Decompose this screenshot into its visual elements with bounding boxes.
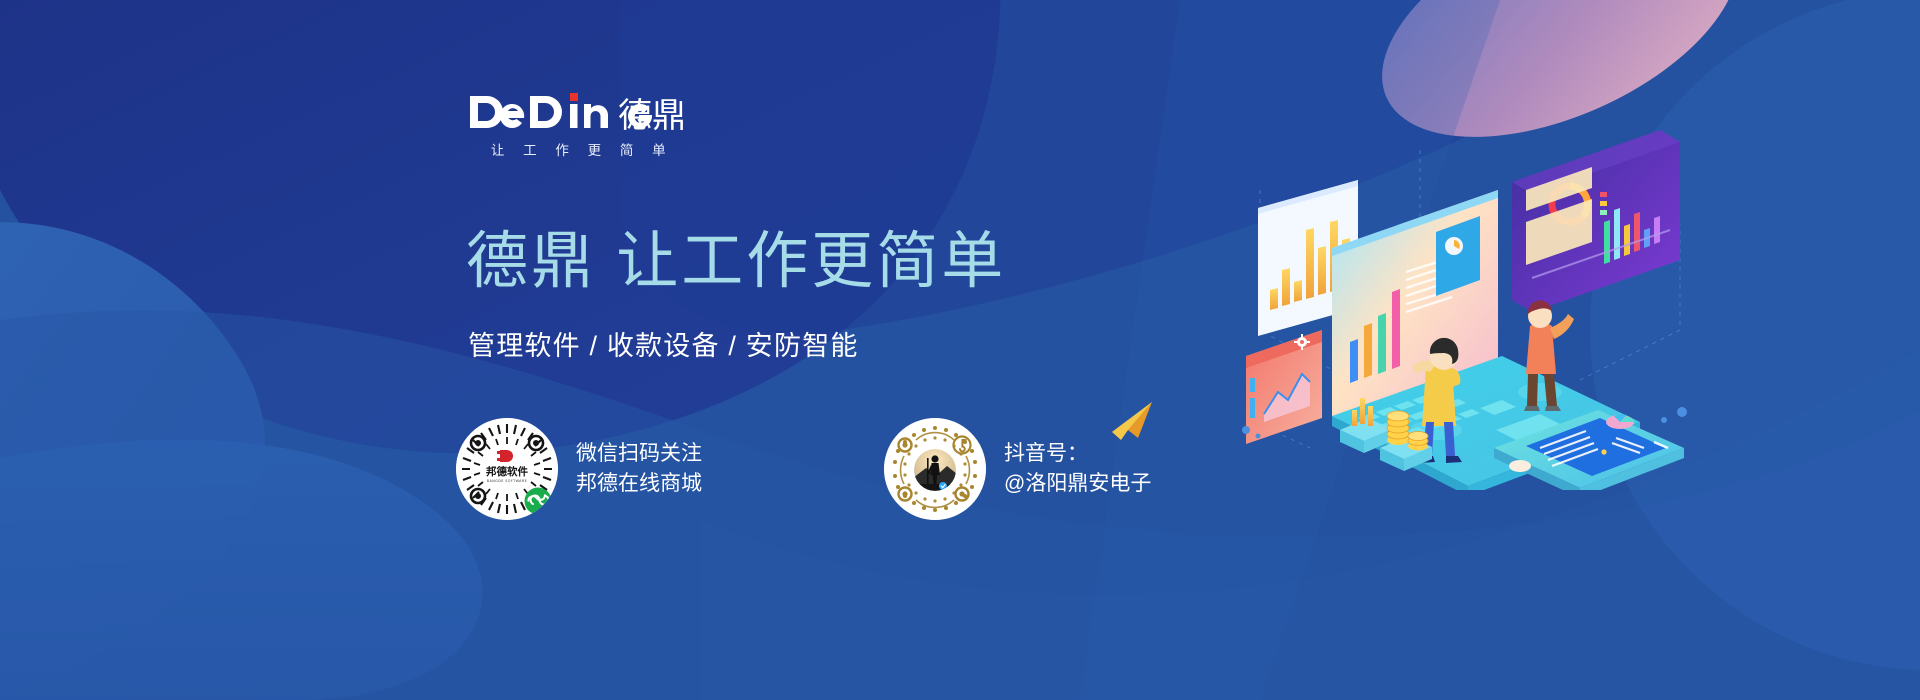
- qr-caption-douyin: 抖音号： @洛阳鼎安电子: [1004, 439, 1151, 500]
- douyin-qr-icon[interactable]: [884, 418, 986, 520]
- qr-caption-line1: 微信扫码关注: [576, 439, 702, 469]
- donut-chart-panel: [1512, 130, 1680, 312]
- hero-subheadline: 管理软件 / 收款设备 / 安防智能: [468, 324, 859, 363]
- logo-cn-text: 德鼎: [618, 96, 684, 132]
- wechat-miniprogram-badge: [525, 488, 552, 515]
- qr-code-group: 邦德软件 BANGDE SOFTWARE 微信扫码关注 邦德在线商城: [456, 418, 1151, 520]
- isometric-analytics-illustration: [1240, 130, 1700, 490]
- qr-caption-line2: 邦德在线商城: [576, 469, 702, 499]
- donut-legend: [1600, 192, 1607, 215]
- line-chart-panel: [1246, 330, 1322, 444]
- brand-logo[interactable]: 德鼎 让 工 作 更 简 单: [468, 88, 688, 159]
- logo-wordmark-icon: 德鼎: [468, 88, 684, 132]
- qr-item-wechat[interactable]: 邦德软件 BANGDE SOFTWARE 微信扫码关注 邦德在线商城: [456, 418, 702, 520]
- hero-headline: 德鼎 让工作更简单: [466, 228, 1006, 296]
- promo-banner: 德鼎 让 工 作 更 简 单 德鼎 让工作更简单 管理软件 / 收款设备 / 安…: [0, 0, 1920, 700]
- wechat-miniprogram-qr-icon[interactable]: 邦德软件 BANGDE SOFTWARE: [456, 418, 558, 520]
- logo-accent-dot: [570, 93, 578, 101]
- svg-text:邦德软件: 邦德软件: [486, 465, 528, 478]
- qr-caption-wechat: 微信扫码关注 邦德在线商城: [576, 439, 702, 500]
- paper-plane-icon: [1108, 400, 1156, 444]
- svg-text:BANGDE SOFTWARE: BANGDE SOFTWARE: [487, 479, 527, 483]
- qr-caption-line2: @洛阳鼎安电子: [1004, 469, 1151, 499]
- logo-tagline: 让 工 作 更 简 单: [468, 139, 688, 159]
